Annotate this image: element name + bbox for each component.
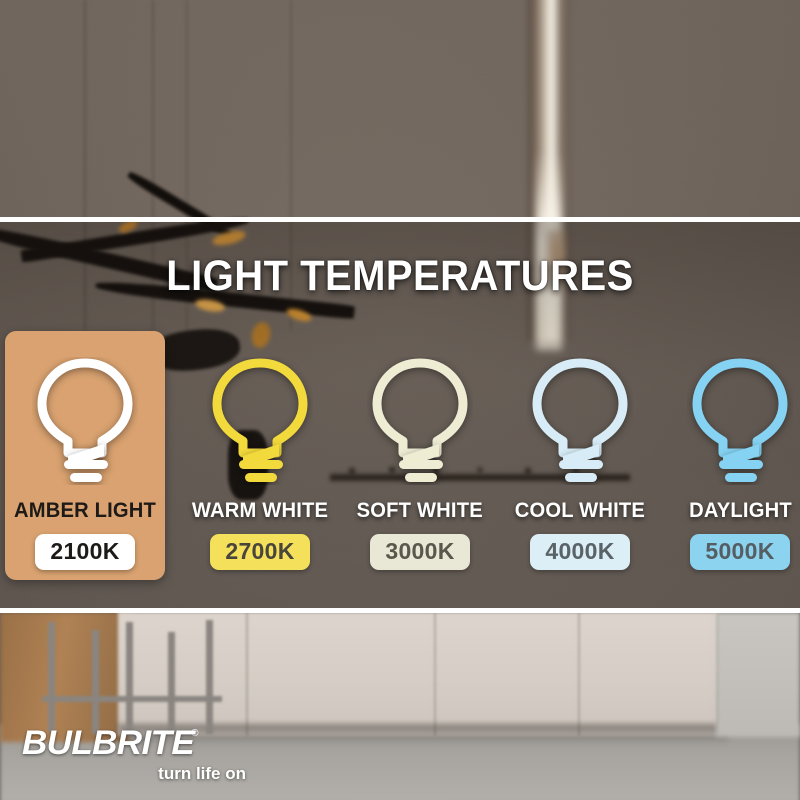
stool-leg <box>206 620 213 734</box>
brand-wordmark-row: BULBRITE ® <box>22 726 252 760</box>
light-bulb-icon <box>32 357 138 485</box>
brand-tagline: turn life on <box>22 764 252 784</box>
kelvin-badge: 5000K <box>690 534 789 570</box>
bulb-icon-wrapper <box>524 355 636 487</box>
temperature-name-label: SOFT WHITE <box>357 499 483 523</box>
temperature-card[interactable]: WARM WHITE2700K <box>180 331 340 583</box>
bulb-icon-wrapper <box>684 355 796 487</box>
temperature-card[interactable]: COOL WHITE4000K <box>500 331 660 583</box>
light-bulb-icon <box>367 357 473 485</box>
bulb-icon-wrapper <box>364 355 476 487</box>
stool-leg <box>48 622 55 732</box>
temperature-name-label: DAYLIGHT <box>689 499 792 523</box>
temperature-name-label: WARM WHITE <box>192 499 328 523</box>
temperature-card-row: AMBER LIGHT2100K WARM WHITE2700K SOFT WH… <box>0 331 800 583</box>
divider-top <box>0 217 800 222</box>
bulb-icon-wrapper <box>204 355 316 487</box>
stool-leg <box>168 632 175 734</box>
poster: LIGHT TEMPERATURES AMBER LIGHT2100K WARM… <box>0 0 800 800</box>
wood-wall-panel <box>0 612 130 742</box>
temperature-card[interactable]: AMBER LIGHT2100K <box>5 331 165 580</box>
stool-leg <box>92 630 99 734</box>
light-bulb-icon <box>527 357 633 485</box>
temperature-card[interactable]: DAYLIGHT5000K <box>660 331 800 583</box>
temperature-card[interactable]: SOFT WHITE3000K <box>340 331 500 583</box>
page-title: LIGHT TEMPERATURES <box>28 252 772 301</box>
light-bulb-icon <box>687 357 793 485</box>
stool-leg <box>126 622 133 734</box>
divider-bottom <box>0 608 800 613</box>
brand-wordmark: BULBRITE <box>22 726 194 760</box>
stool-rail <box>42 696 222 702</box>
brand-logo: BULBRITE ® turn life on <box>22 726 252 784</box>
kelvin-badge: 3000K <box>370 534 469 570</box>
kelvin-badge: 4000K <box>530 534 629 570</box>
kelvin-badge: 2700K <box>210 534 309 570</box>
temperature-name-label: AMBER LIGHT <box>14 499 156 523</box>
right-wall <box>716 612 800 737</box>
bulb-icon-wrapper <box>29 355 141 487</box>
kelvin-badge: 2100K <box>35 534 134 570</box>
light-bulb-icon <box>207 357 313 485</box>
temperature-name-label: COOL WHITE <box>515 499 645 523</box>
